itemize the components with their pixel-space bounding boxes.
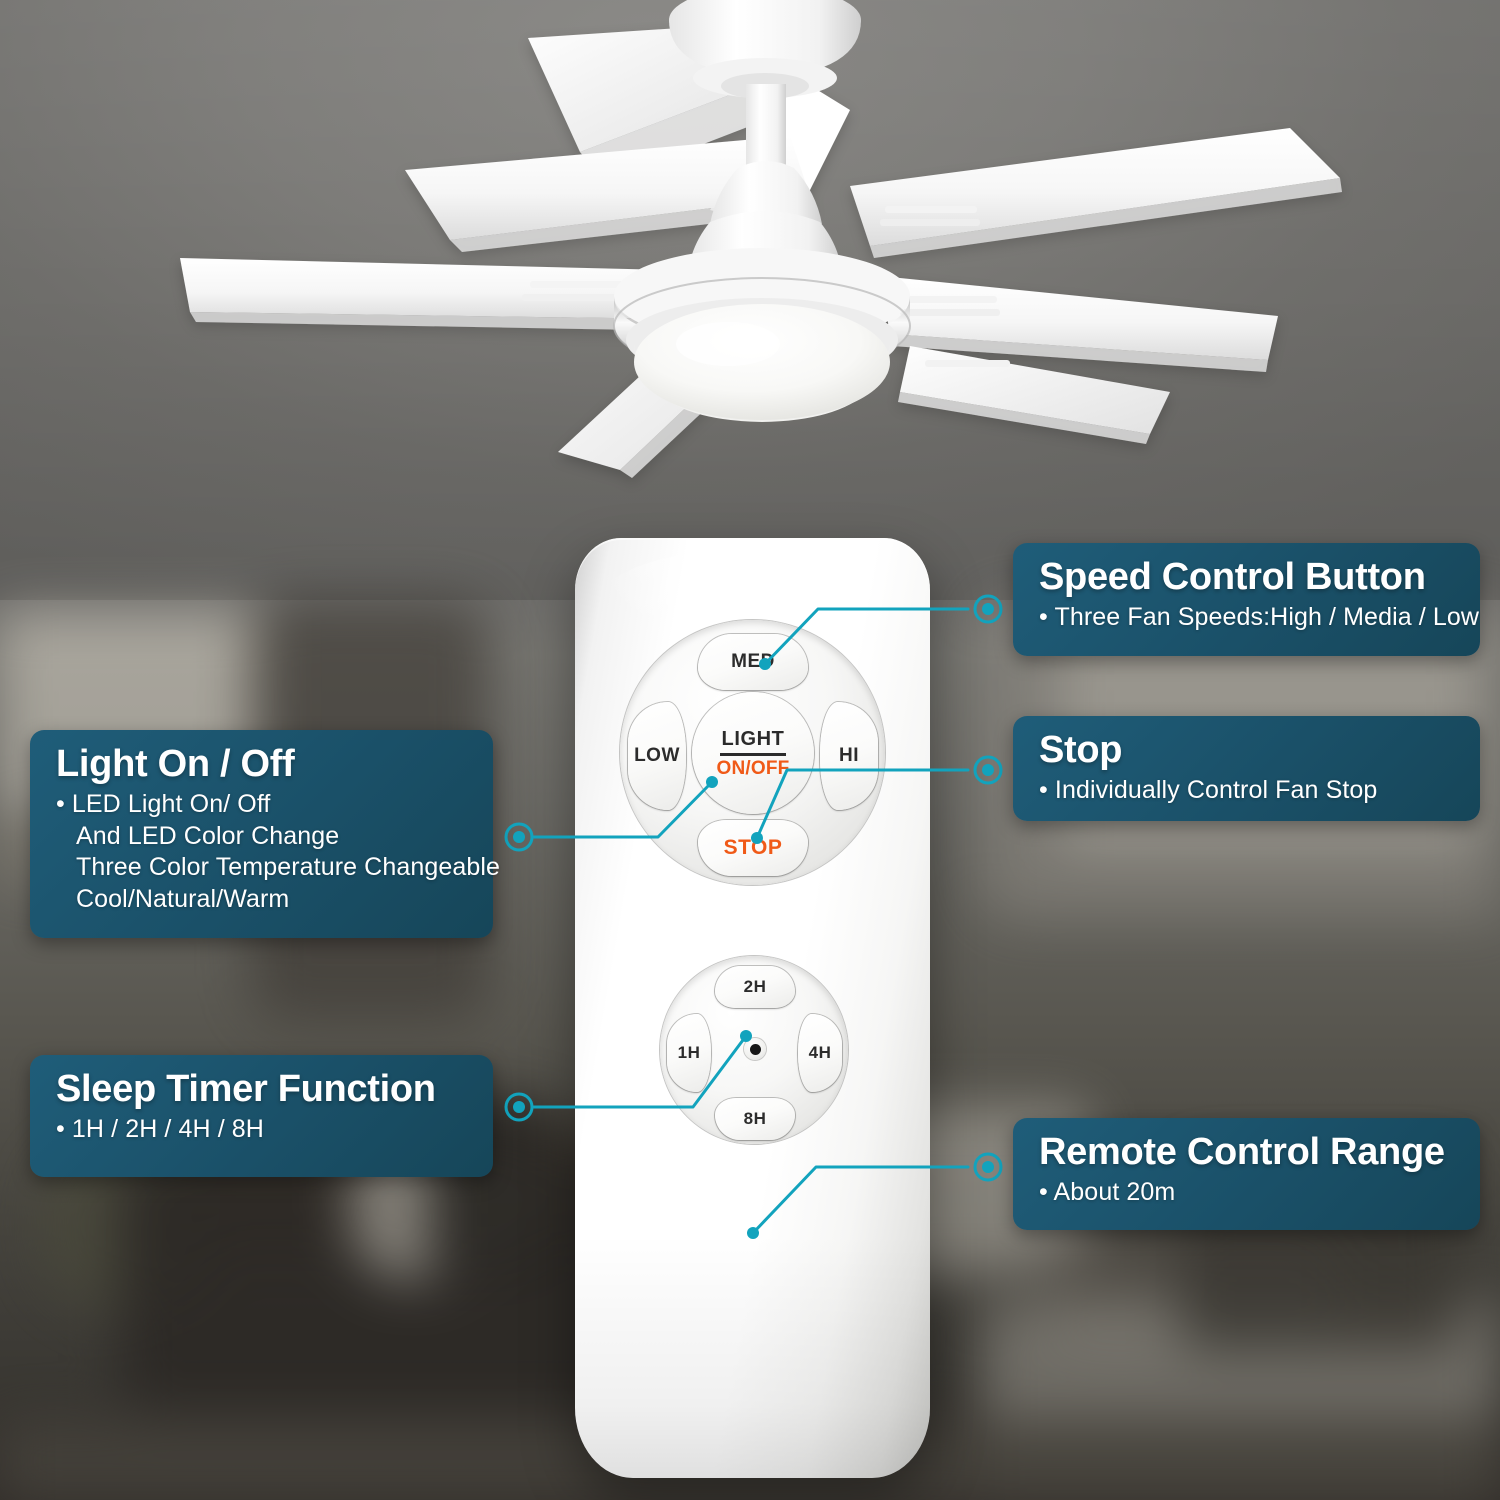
fan-control-pad: MED LOW HI STOP LIGHT ON/OFF [620, 620, 885, 885]
light-button-label: LIGHT [722, 729, 785, 749]
callout-light-on-off: Light On / Off • LED Light On/ Off And L… [30, 730, 493, 938]
callout-title: Sleep Timer Function [56, 1069, 471, 1110]
infographic-canvas: MED LOW HI STOP LIGHT ON/OFF 2H 1H [0, 0, 1500, 1500]
light-on-off-button[interactable]: LIGHT ON/OFF [692, 692, 814, 814]
stop-button[interactable]: STOP [698, 820, 808, 876]
bullet-icon: • [1039, 775, 1048, 807]
med-button-label: MED [731, 651, 775, 673]
callout-sleep-timer: Sleep Timer Function • 1H / 2H / 4H / 8H [30, 1055, 493, 1177]
timer-2h-button[interactable]: 2H [715, 966, 795, 1008]
callout-line-text: LED Light On/ Off [72, 790, 271, 818]
callout-line-text: About 20m [1054, 1178, 1176, 1206]
callout-bullet-line: • 1H / 2H / 4H / 8H [56, 1114, 471, 1146]
remote-control-device: MED LOW HI STOP LIGHT ON/OFF 2H 1H [575, 538, 930, 1478]
callout-bullet-line: • Three Fan Speeds:High / Media / Low [1039, 602, 1458, 634]
callout-title: Remote Control Range [1039, 1132, 1458, 1173]
callout-speed-control: Speed Control Button • Three Fan Speeds:… [1013, 543, 1480, 656]
callout-stop: Stop • Individually Control Fan Stop [1013, 716, 1480, 821]
hi-button-label: HI [839, 745, 859, 767]
bullet-icon: • [56, 1114, 65, 1146]
light-button-divider [720, 753, 786, 756]
sleep-timer-pad: 2H 1H 4H 8H [660, 956, 848, 1144]
callout-line-text: Three Fan Speeds:High / Media / Low [1054, 603, 1479, 631]
callout-remote-range: Remote Control Range • About 20m [1013, 1118, 1480, 1230]
timer-1h-button[interactable]: 1H [667, 1014, 711, 1092]
callout-title: Light On / Off [56, 744, 471, 785]
timer-8h-label: 8H [744, 1109, 767, 1129]
callout-line-text: And LED Color Change [56, 821, 471, 853]
timer-2h-label: 2H [744, 977, 767, 997]
med-speed-button[interactable]: MED [698, 634, 808, 690]
callout-bullet-line: • Individually Control Fan Stop [1039, 775, 1458, 807]
ceiling-fan-image [150, 0, 1380, 510]
timer-4h-label: 4H [809, 1043, 832, 1063]
hi-speed-button[interactable]: HI [820, 702, 878, 810]
bullet-icon: • [56, 789, 65, 821]
callout-title: Speed Control Button [1039, 557, 1458, 598]
timer-1h-label: 1H [678, 1043, 701, 1063]
light-on-off-label: ON/OFF [717, 759, 790, 778]
callout-line-text: 1H / 2H / 4H / 8H [72, 1115, 264, 1143]
callout-line-text: Cool/Natural/Warm [56, 884, 471, 916]
stop-button-label: STOP [724, 836, 783, 860]
bullet-icon: • [1039, 1177, 1048, 1209]
timer-4h-button[interactable]: 4H [798, 1014, 842, 1092]
bullet-icon: • [1039, 602, 1048, 634]
timer-indicator-dot [750, 1044, 761, 1055]
low-speed-button[interactable]: LOW [628, 702, 686, 810]
callout-title: Stop [1039, 730, 1458, 771]
low-button-label: LOW [634, 745, 680, 767]
callout-bullet-line: • LED Light On/ Off [56, 789, 471, 821]
callout-line-text: Three Color Temperature Changeable [56, 852, 471, 884]
callout-line-text: Individually Control Fan Stop [1055, 776, 1378, 804]
timer-8h-button[interactable]: 8H [715, 1098, 795, 1140]
callout-bullet-line: • About 20m [1039, 1177, 1458, 1209]
